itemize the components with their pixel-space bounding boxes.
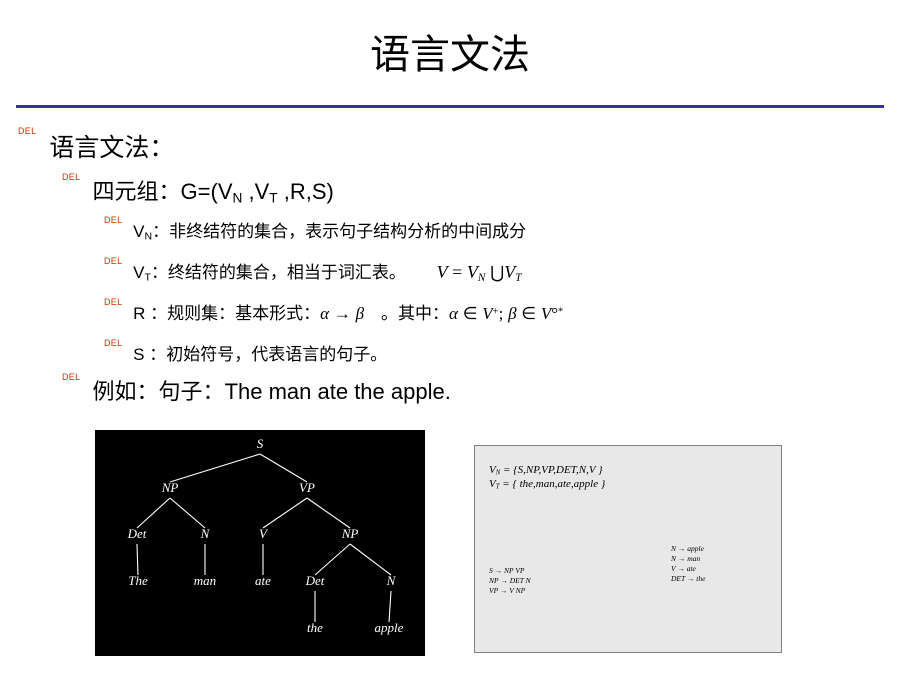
tree-node-label: The bbox=[128, 573, 148, 588]
parse-tree-svg: S NP VP Det N V NP The man ate Det N the… bbox=[95, 430, 425, 656]
del-marker-icon: DEL bbox=[18, 126, 36, 136]
del-marker-icon: DEL bbox=[104, 256, 122, 266]
tree-node-labels: S NP VP Det N V NP The man ate Det N the… bbox=[127, 436, 404, 635]
vn-def-rest: = {S,NP,VP,DET,N,V } bbox=[500, 464, 602, 476]
r-text-2: 。其中： bbox=[364, 304, 449, 323]
bullet-level1: DEL 语言文法： bbox=[18, 128, 174, 164]
r-text: R ：规则集：基本形式： bbox=[133, 304, 320, 323]
tree-node-label: Det bbox=[127, 526, 147, 541]
vn-definition: VN = {S,NP,VP,DET,N,V } bbox=[489, 464, 602, 477]
bullet-vn: DEL VN：非终结符的集合，表示句子结构分析的中间成分 bbox=[104, 217, 526, 243]
tree-node-label: N bbox=[386, 573, 397, 588]
quadruple-sub-n: N bbox=[233, 190, 243, 205]
example-sentence: The man ate the apple. bbox=[225, 379, 451, 404]
tree-node-label: VP bbox=[299, 480, 315, 495]
equation-alpha-beta: α → β bbox=[320, 304, 364, 324]
rule-item: N → man bbox=[671, 554, 705, 564]
vt-def-lead: V bbox=[489, 478, 496, 490]
quadruple-mid: ,V bbox=[242, 179, 269, 204]
bullet-level1-text: 语言文法： bbox=[49, 134, 174, 162]
rule-item: DET → the bbox=[671, 574, 705, 584]
del-marker-icon: DEL bbox=[62, 372, 80, 382]
del-marker-icon: DEL bbox=[104, 297, 122, 307]
title-divider bbox=[16, 105, 884, 108]
rules-left-column: S → NP VP NP → DET N VP → V NP bbox=[489, 566, 531, 596]
quadruple-text-after: ,R,S) bbox=[278, 179, 334, 204]
quadruple-sub-t: T bbox=[269, 190, 277, 205]
equation-v-union: V = VN ⋃VT bbox=[437, 262, 522, 284]
rule-item: V → ate bbox=[671, 564, 705, 574]
rule-item: NP → DET N bbox=[489, 576, 531, 586]
page-title: 语言文法 bbox=[0, 30, 900, 80]
tree-node-label: NP bbox=[341, 526, 359, 541]
vn-rest: ：非终结符的集合，表示句子结构分析的中间成分 bbox=[152, 222, 526, 241]
tree-node-label: S bbox=[257, 436, 264, 451]
bullet-s: DEL S ：初始符号，代表语言的句子。 bbox=[104, 340, 387, 365]
quadruple-text-before: 四元组：G=(V bbox=[93, 179, 233, 204]
bullet-r: DEL R ：规则集：基本形式：α → β 。其中：α ∈ V+; β ∈ V°… bbox=[104, 299, 563, 324]
bullet-quadruple: DEL 四元组：G=(VN ,VT ,R,S) bbox=[62, 174, 334, 206]
vn-def-lead: V bbox=[489, 464, 496, 476]
del-marker-icon: DEL bbox=[104, 215, 122, 225]
del-marker-icon: DEL bbox=[104, 338, 122, 348]
vn-lead: V bbox=[133, 222, 144, 241]
grammar-definition-box: VN = {S,NP,VP,DET,N,V } VT = { the,man,a… bbox=[474, 445, 782, 653]
rule-item: N → apple bbox=[671, 544, 705, 554]
rule-item: VP → V NP bbox=[489, 586, 531, 596]
tree-node-label: N bbox=[200, 526, 211, 541]
parse-tree-figure: S NP VP Det N V NP The man ate Det N the… bbox=[95, 430, 425, 656]
vt-def-rest: = { the,man,ate,apple } bbox=[500, 478, 606, 490]
tree-node-label: apple bbox=[375, 620, 404, 635]
tree-node-label: V bbox=[259, 526, 269, 541]
vt-definition: VT = { the,man,ate,apple } bbox=[489, 478, 605, 491]
bullet-example: DEL 例如：句子：The man ate the apple. bbox=[62, 374, 451, 406]
tree-node-label: the bbox=[307, 620, 323, 635]
example-label: 例如：句子： bbox=[93, 379, 225, 404]
vt-rest: ：终结符的集合，相当于词汇表。 bbox=[151, 263, 406, 282]
s-lead: S ： bbox=[133, 345, 166, 364]
tree-node-label: man bbox=[194, 573, 216, 588]
tree-node-label: NP bbox=[161, 480, 179, 495]
rules-right-column: N → apple N → man V → ate DET → the bbox=[671, 544, 705, 584]
tree-node-label: Det bbox=[305, 573, 325, 588]
bullet-vt: DEL VT：终结符的集合，相当于词汇表。 V = VN ⋃VT bbox=[104, 258, 521, 284]
equation-constraints: α ∈ V+; β ∈ V°* bbox=[449, 304, 563, 324]
del-marker-icon: DEL bbox=[62, 172, 80, 182]
slide: 语言文法 DEL 语言文法： DEL 四元组：G=(VN ,VT ,R,S) D… bbox=[0, 0, 900, 675]
vn-sub: N bbox=[145, 231, 153, 243]
vt-lead: V bbox=[133, 263, 144, 282]
tree-node-label: ate bbox=[255, 573, 271, 588]
rule-item: S → NP VP bbox=[489, 566, 531, 576]
s-rest: 初始符号，代表语言的句子。 bbox=[166, 345, 387, 364]
